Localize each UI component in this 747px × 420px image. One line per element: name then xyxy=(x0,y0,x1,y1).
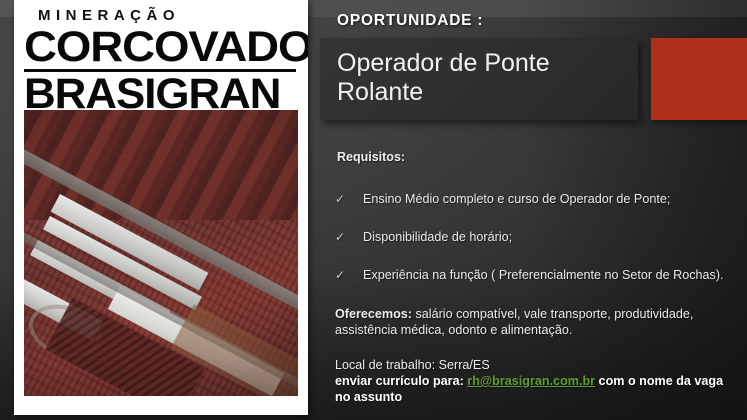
check-icon: ✓ xyxy=(335,268,345,283)
check-icon: ✓ xyxy=(335,230,345,245)
list-item: ✓ Ensino Médio completo e curso de Opera… xyxy=(335,192,735,207)
photo-vignette xyxy=(24,110,298,396)
aerial-photo xyxy=(24,110,298,396)
list-item-label: Experiência na função ( Preferencialment… xyxy=(363,268,724,282)
contact-line: enviar currículo para: rh@brasigran.com.… xyxy=(335,373,735,405)
job-title: Operador de Ponte Rolante xyxy=(337,49,627,107)
opportunity-kicker: OPORTUNIDADE : xyxy=(337,12,483,30)
check-icon: ✓ xyxy=(335,192,345,207)
send-cv-label: enviar currículo para: xyxy=(335,374,464,388)
accent-color-block xyxy=(651,38,747,120)
company-logo-card: MINERAÇÃO CORCOVADO BRASIGRAN GRANITOS xyxy=(14,0,308,415)
requirements-label: Requisitos: xyxy=(337,150,405,164)
job-posting-slide: MINERAÇÃO CORCOVADO BRASIGRAN GRANITOS O… xyxy=(0,0,747,420)
list-item: ✓ Disponibilidade de horário; xyxy=(335,230,735,245)
job-title-box: Operador de Ponte Rolante xyxy=(320,38,638,120)
offer-paragraph: Oferecemos: salário compatível, vale tra… xyxy=(335,306,725,338)
offer-label: Oferecemos: xyxy=(335,307,412,321)
requirements-list: ✓ Ensino Médio completo e curso de Opera… xyxy=(335,192,735,306)
logo-line-corcovado: CORCOVADO xyxy=(24,26,308,68)
work-location: Local de trabalho: Serra/ES xyxy=(335,357,735,373)
list-item: ✓ Experiência na função ( Preferencialme… xyxy=(335,268,735,283)
list-item-label: Ensino Médio completo e curso de Operado… xyxy=(363,192,670,206)
list-item-label: Disponibilidade de horário; xyxy=(363,230,512,244)
email-link[interactable]: rh@brasigran.com.br xyxy=(467,374,595,388)
